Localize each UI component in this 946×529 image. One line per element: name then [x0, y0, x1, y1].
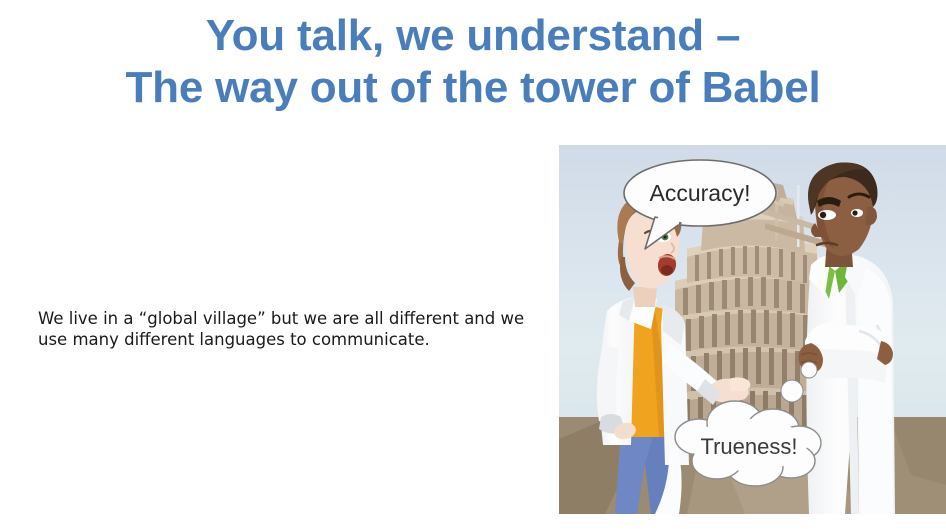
title-line-1: You talk, we understand – [0, 10, 946, 62]
illustration-image: Accuracy! Trueness! [559, 145, 946, 514]
slide-canvas: You talk, we understand – The way out of… [0, 0, 946, 529]
babel-scene-svg: Accuracy! Trueness! [559, 145, 946, 514]
title-line-2: The way out of the tower of Babel [0, 62, 946, 114]
thought-bubble-trueness-text: Trueness! [700, 434, 797, 459]
page-title: You talk, we understand – The way out of… [0, 10, 946, 114]
speech-bubble-accuracy-text: Accuracy! [650, 180, 751, 206]
body-paragraph: We live in a “global village” but we are… [38, 308, 550, 351]
